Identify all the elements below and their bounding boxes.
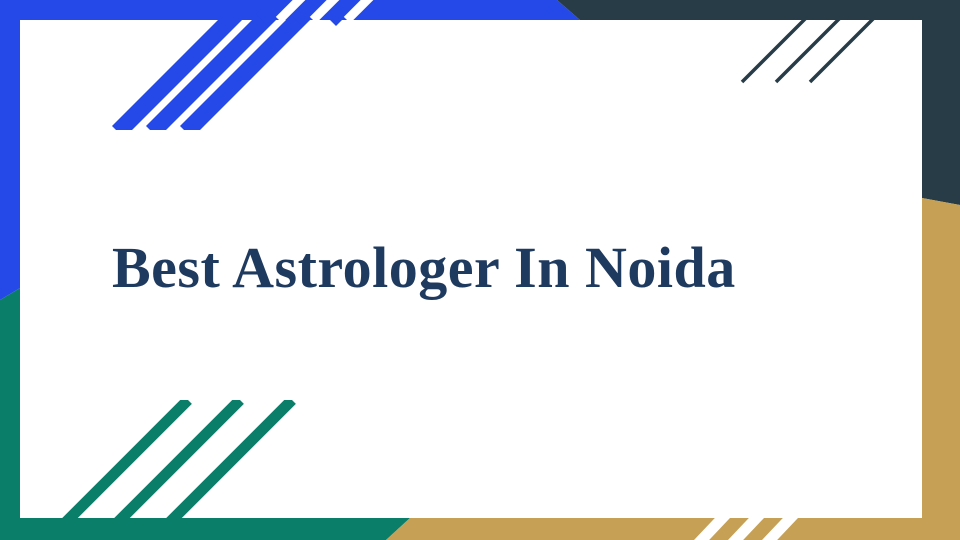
page-title: Best Astrologer In Noida <box>0 236 736 300</box>
title-layer: Best Astrologer In Noida <box>0 0 960 540</box>
slide-canvas: Best Astrologer In Noida <box>0 0 960 540</box>
